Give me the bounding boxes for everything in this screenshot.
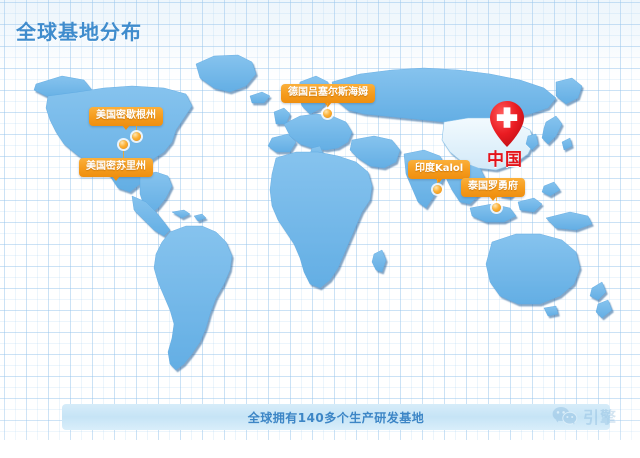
marker-label-ruesselsheim[interactable]: 德国吕塞尔斯海姆 [281, 84, 375, 103]
callout-tail-icon [122, 125, 130, 130]
marker-label-text: 泰国罗勇府 [468, 181, 518, 192]
map-pin-icon[interactable] [488, 100, 526, 148]
marker-label-michigan[interactable]: 美国密歇根州 [89, 107, 163, 126]
callout-tail-icon [324, 102, 332, 107]
marker-label-text: 德国吕塞尔斯海姆 [288, 87, 368, 98]
watermark-text: 引擎 [583, 404, 617, 428]
china-label: 中国 [487, 145, 523, 170]
site-dot-rayong[interactable] [492, 203, 501, 212]
callout-tail-icon [112, 176, 120, 181]
marker-label-kalol[interactable]: 印度Kalol [408, 160, 470, 179]
world-map [0, 26, 640, 406]
marker-label-text: 印度Kalol [415, 163, 463, 174]
wechat-icon [552, 406, 578, 426]
slide-canvas: 全球基地分布 [0, 0, 640, 458]
site-dot-ruesselsheim[interactable] [323, 109, 332, 118]
watermark: 引擎 [552, 404, 617, 428]
summary-banner-text: 全球拥有140多个生产研发基地 [62, 404, 610, 430]
marker-label-text: 美国密歇根州 [96, 110, 156, 121]
site-dot-missouri[interactable] [119, 140, 128, 149]
marker-label-text: 美国密苏里州 [86, 161, 146, 172]
leader-line-missouri [123, 148, 124, 158]
site-dot-kalol[interactable] [433, 185, 442, 194]
marker-label-missouri[interactable]: 美国密苏里州 [79, 158, 153, 177]
site-dot-michigan[interactable] [132, 132, 141, 141]
marker-label-rayong[interactable]: 泰国罗勇府 [461, 178, 525, 197]
